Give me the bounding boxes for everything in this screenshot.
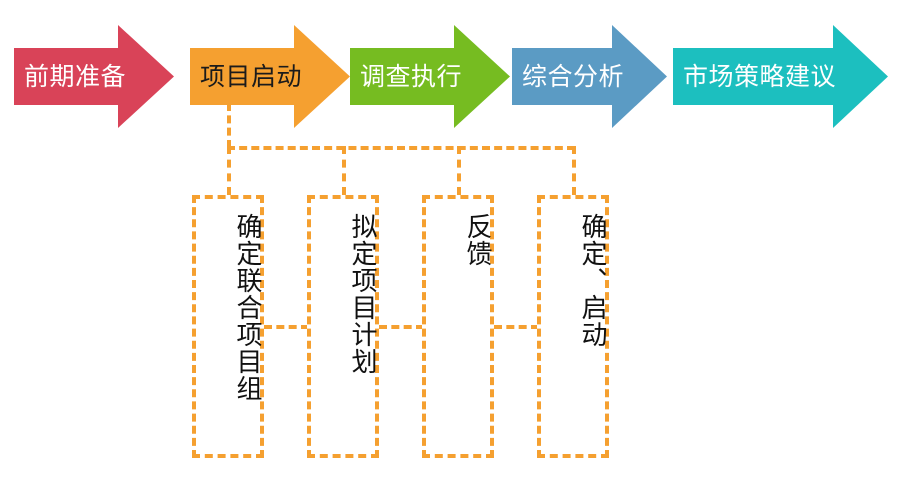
- arrow-shape-icon: [14, 25, 174, 128]
- stage-arrow-3[interactable]: 调查执行: [350, 25, 510, 128]
- task-box-3[interactable]: 反馈: [422, 195, 494, 458]
- connector-task-2-to-3: [379, 325, 424, 329]
- connector-drop-task-2: [342, 146, 346, 195]
- task-box-1-label: 确定联合项目组: [196, 213, 260, 402]
- arrow-shape-icon: [190, 25, 350, 128]
- flow-diagram-canvas: 前期准备 项目启动 调查执行 综合分析 市场策略建议: [0, 0, 900, 480]
- stage-arrow-2[interactable]: 项目启动: [190, 25, 350, 128]
- connector-bus: [227, 146, 575, 150]
- arrow-shape-icon: [512, 25, 667, 128]
- stage-arrow-1[interactable]: 前期准备: [14, 25, 174, 128]
- stage-arrow-4[interactable]: 综合分析: [512, 25, 667, 128]
- connector-task-3-to-4: [494, 325, 539, 329]
- stage-arrow-5[interactable]: 市场策略建议: [673, 25, 888, 128]
- connector-task-1-to-2: [264, 325, 309, 329]
- connector-drop-task-1: [227, 146, 231, 195]
- task-box-1[interactable]: 确定联合项目组: [192, 195, 264, 458]
- task-box-4[interactable]: 确定、启动: [537, 195, 609, 458]
- task-box-4-label: 确定、启动: [541, 213, 605, 348]
- task-box-3-label: 反馈: [426, 213, 490, 267]
- arrow-shape-icon: [350, 25, 510, 128]
- task-box-2[interactable]: 拟定项目计划: [307, 195, 379, 458]
- connector-drop-task-3: [457, 146, 461, 195]
- task-box-2-label: 拟定项目计划: [311, 213, 375, 375]
- arrow-shape-icon: [673, 25, 888, 128]
- connector-stage-drop: [227, 103, 231, 148]
- connector-drop-task-4: [572, 146, 576, 195]
